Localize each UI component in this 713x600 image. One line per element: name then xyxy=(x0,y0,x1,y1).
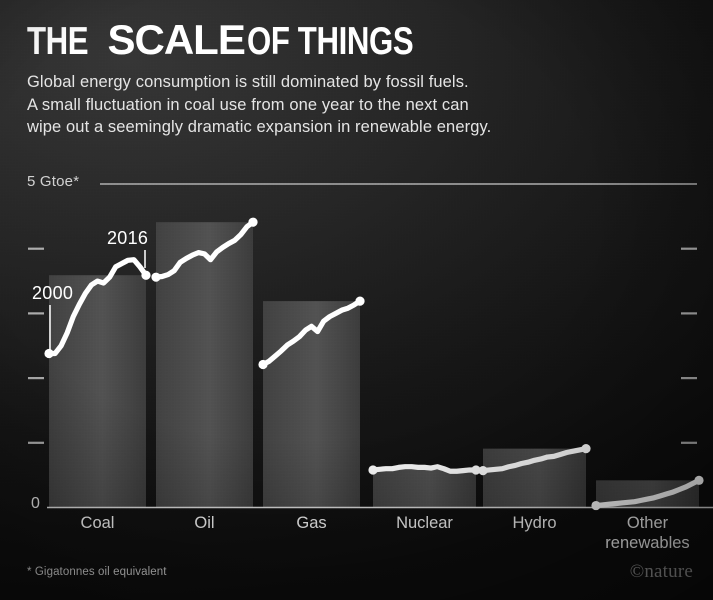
category-label-line2: renewables xyxy=(568,533,713,553)
series-start-dot-coal xyxy=(44,349,53,358)
category-label-line1: Other xyxy=(568,513,713,533)
y-axis-top-label: 5 Gtoe* xyxy=(27,173,79,190)
y-axis-zero-label: 0 xyxy=(31,495,40,513)
bar-coal xyxy=(49,275,146,507)
series-end-dot-gas xyxy=(355,297,364,306)
series-start-dot-hydro xyxy=(478,466,487,475)
annotation-start-year: 2000 xyxy=(32,283,73,304)
bar-hydro xyxy=(483,449,586,508)
bar-oil xyxy=(156,222,253,507)
series-start-dot-nuclear xyxy=(368,465,377,474)
series-end-dot-hydro xyxy=(581,444,590,453)
footnote: * Gigatonnes oil equivalent xyxy=(27,566,167,578)
series-start-dot-oil xyxy=(151,273,160,282)
series-end-dot-oil xyxy=(248,218,257,227)
bar-gas xyxy=(263,301,360,507)
annotation-end-year: 2016 xyxy=(107,228,148,249)
bar-nuclear xyxy=(373,470,476,508)
infographic-page: THESCALEOF THINGS Global energy consumpt… xyxy=(0,0,713,600)
category-label-other-renewables: Otherrenewables xyxy=(568,513,713,553)
series-end-dot-other-renewables xyxy=(694,476,703,485)
series-end-dot-coal xyxy=(141,271,150,280)
series-start-dot-gas xyxy=(258,360,267,369)
bars-layer xyxy=(49,222,699,507)
series-start-dot-other-renewables xyxy=(591,501,600,510)
nature-logo: ©nature xyxy=(630,561,693,583)
energy-consumption-chart xyxy=(0,0,713,600)
